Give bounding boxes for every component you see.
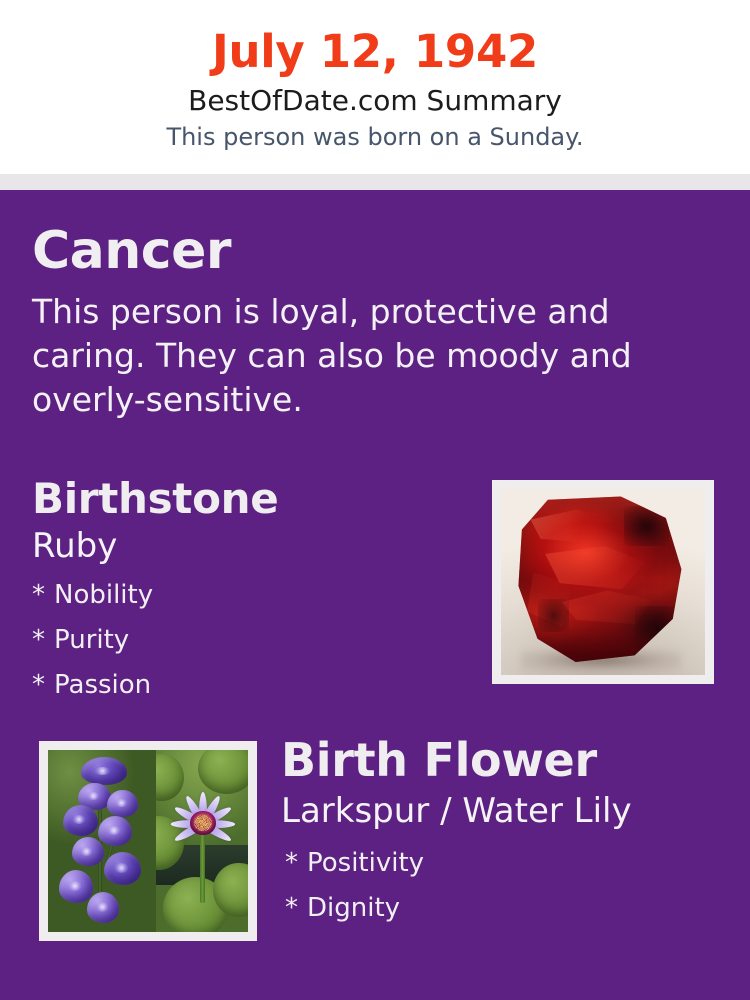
birthstone-value: Ruby <box>32 524 462 567</box>
ruby-photo-background <box>501 489 705 675</box>
ruby-crystal-shape <box>513 496 686 662</box>
larkspur-bloom <box>87 892 119 923</box>
asterisk-icon: * <box>32 573 54 618</box>
list-item: *Dignity <box>285 886 731 931</box>
birth-flower-heading: Birth Flower <box>281 732 731 788</box>
birthstone-section: Birthstone Ruby *Nobility *Purity *Passi… <box>32 474 462 708</box>
birthstone-photo-frame <box>492 480 714 684</box>
list-item: *Nobility <box>32 573 462 618</box>
header-divider <box>0 174 750 190</box>
larkspur-bloom <box>104 852 141 885</box>
birth-flower-trait-label: Positivity <box>307 848 424 878</box>
birth-flower-photo-frame <box>39 741 257 941</box>
larkspur-bloom <box>98 816 133 847</box>
list-item: *Positivity <box>285 841 731 886</box>
zodiac-sign-name: Cancer <box>32 222 231 280</box>
birth-flower-section: Birth Flower Larkspur / Water Lily *Posi… <box>281 732 731 931</box>
birthstone-heading: Birthstone <box>32 474 462 524</box>
asterisk-icon: * <box>32 618 54 663</box>
birthstone-trait-label: Purity <box>54 625 129 655</box>
page-title: July 12, 1942 <box>0 0 750 78</box>
birthstone-trait-list: *Nobility *Purity *Passion <box>32 567 462 708</box>
asterisk-icon: * <box>285 841 307 886</box>
asterisk-icon: * <box>32 663 54 708</box>
born-day-text: This person was born on a Sunday. <box>0 118 750 152</box>
lily-stamen-center <box>190 811 216 836</box>
birthstone-trait-label: Passion <box>54 670 151 700</box>
larkspur-bloom <box>107 790 137 817</box>
zodiac-description: This person is loyal, protective and car… <box>32 290 652 422</box>
birthday-summary-card: July 12, 1942 BestOfDate.com Summary Thi… <box>0 0 750 1000</box>
list-item: *Purity <box>32 618 462 663</box>
list-item: *Passion <box>32 663 462 708</box>
asterisk-icon: * <box>285 886 307 931</box>
card-header: July 12, 1942 BestOfDate.com Summary Thi… <box>0 0 750 174</box>
water-lily-bloom <box>173 783 234 856</box>
larkspur-bloom <box>63 805 98 836</box>
birth-flower-trait-list: *Positivity *Dignity <box>281 833 731 931</box>
ruby-inclusion <box>624 506 669 546</box>
larkspur-bloom <box>72 837 104 866</box>
site-summary-label: BestOfDate.com Summary <box>0 78 750 118</box>
larkspur-bloom <box>59 870 94 903</box>
birthstone-trait-label: Nobility <box>54 580 153 610</box>
birth-flower-value: Larkspur / Water Lily <box>281 788 731 833</box>
ruby-inclusion <box>538 599 569 632</box>
ruby-inclusion <box>635 606 680 652</box>
water-lily-photo <box>156 750 248 932</box>
ruby-facet <box>531 510 614 543</box>
larkspur-photo <box>48 750 156 932</box>
ruby-crystal-photo <box>501 489 705 675</box>
birth-flower-trait-label: Dignity <box>307 893 400 923</box>
content-panel: Cancer This person is loyal, protective … <box>0 190 750 1000</box>
larkspur-bloom <box>81 757 126 784</box>
